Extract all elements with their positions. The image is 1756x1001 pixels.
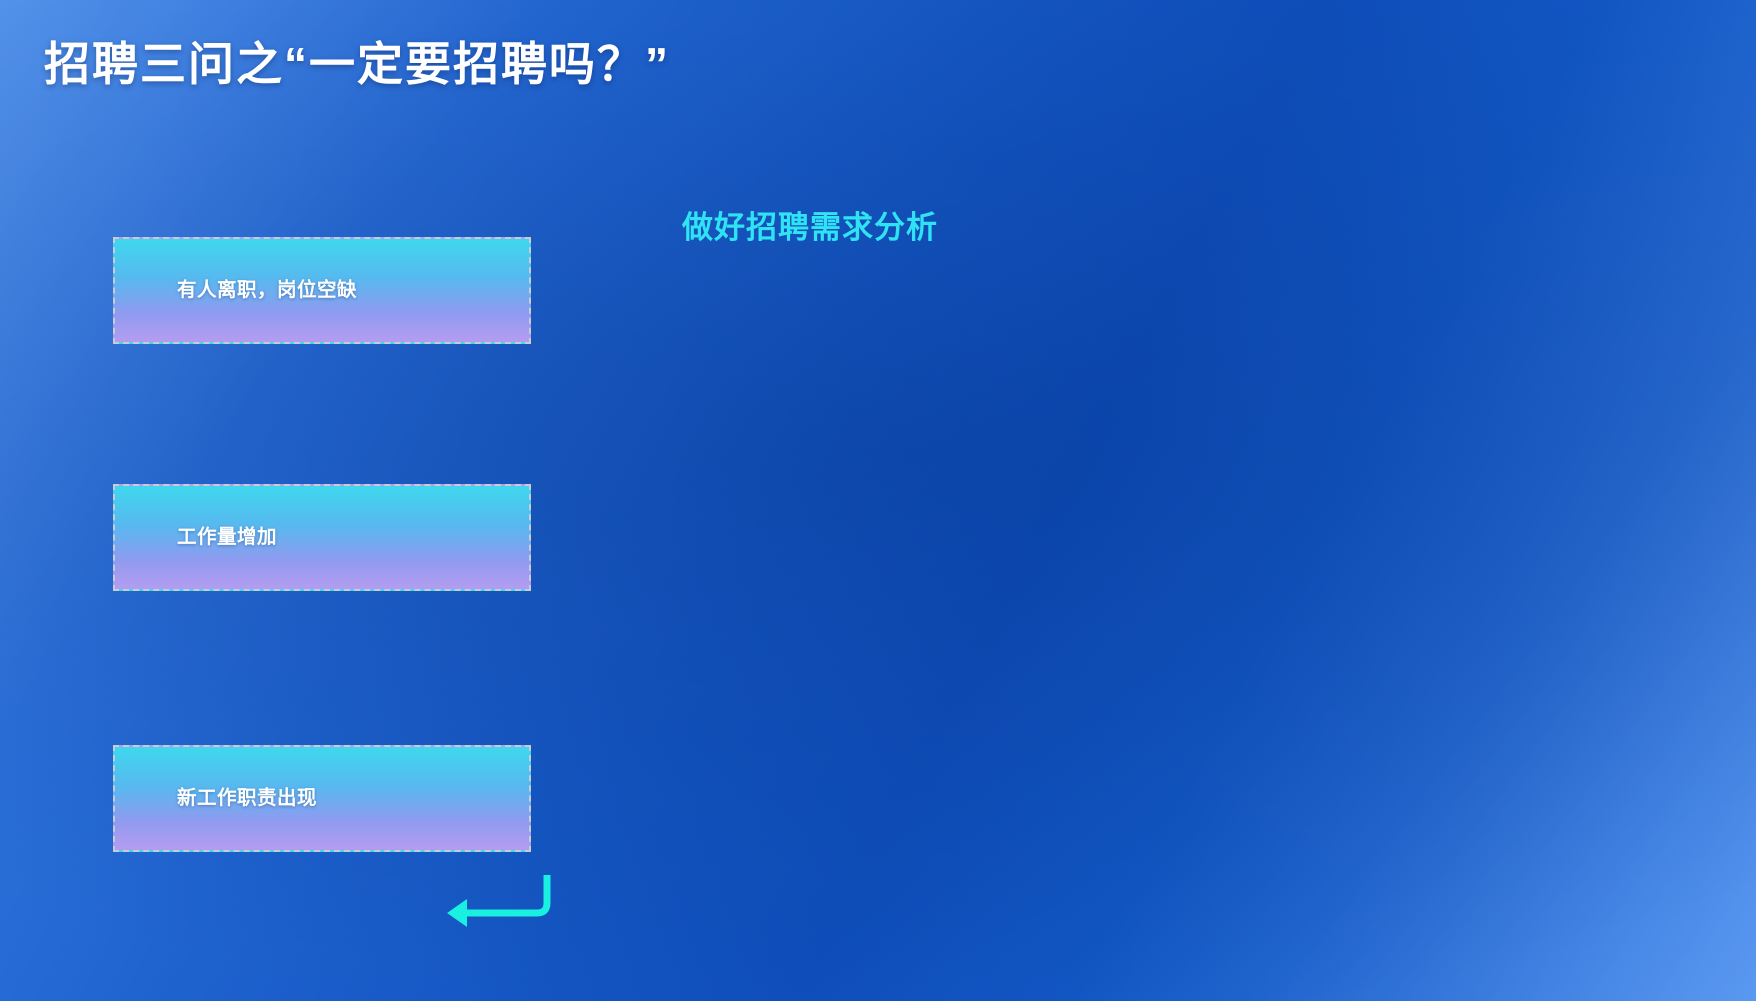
- left-item-3[interactable]: 新工作职责出现: [113, 745, 531, 852]
- left-connector-1-icon: [435, 869, 555, 929]
- center-heading: 做好招聘需求分析: [614, 202, 1006, 247]
- slide-canvas: 招聘三问之“一定要招聘吗？” 做好招聘需求分析 有人离职，岗位空缺 工作量增加 …: [0, 0, 1756, 1001]
- left-item-2-label: 工作量增加: [115, 523, 277, 551]
- left-item-1-label: 有人离职，岗位空缺: [115, 276, 357, 304]
- page-title: 招聘三问之“一定要招聘吗？”: [44, 28, 1756, 94]
- left-connector-1: [435, 869, 555, 929]
- left-item-2[interactable]: 工作量增加: [113, 484, 531, 591]
- left-item-1[interactable]: 有人离职，岗位空缺: [113, 237, 531, 344]
- left-item-3-label: 新工作职责出现: [115, 784, 317, 812]
